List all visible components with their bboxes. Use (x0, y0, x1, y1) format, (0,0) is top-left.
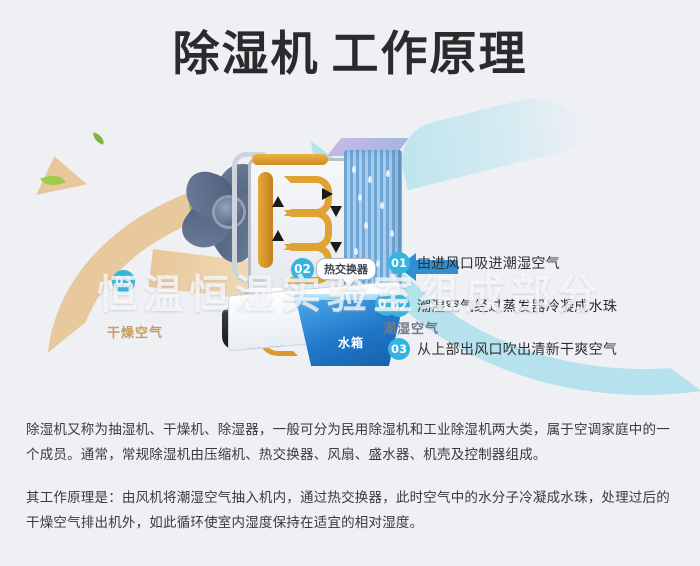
flow-arrow-up-icon (272, 196, 284, 207)
flow-arrow-up-icon (272, 230, 284, 241)
flow-arrow-right-icon (322, 188, 333, 200)
dry-air-label: 干燥空气 (107, 322, 163, 341)
list-item: 02 潮湿空气经过蒸发器冷凝成水珠 (388, 295, 688, 317)
paragraph-1: 除湿机又称为抽湿机、干燥机、除湿器，一般可分为民用除湿机和工业除湿机两大类，属于… (26, 418, 676, 468)
step-badge: 02 (388, 295, 410, 317)
flow-arrow-down-icon (330, 206, 342, 217)
coil-tube (252, 154, 328, 165)
compressor-cylinder (258, 172, 273, 268)
list-item: 01 由进风口吸进潮湿空气 (388, 252, 688, 274)
step-badge: 01 (388, 252, 410, 274)
water-tank-label: 水箱 (316, 334, 386, 351)
step-text: 由进风口吸进潮湿空气 (417, 253, 560, 273)
leaf-icon (91, 132, 106, 145)
list-item: 03 从上部出风口吹出清新干爽空气 (388, 338, 688, 360)
paragraph-2: 其工作原理是：由风机将潮湿空气抽入机内，通过热交换器，此时空气中的水分子冷凝成水… (26, 486, 676, 536)
process-steps-list: 01 由进风口吸进潮湿空气 02 潮湿空气经过蒸发器冷凝成水珠 03 从上部出风… (388, 252, 688, 381)
title-subject: 除湿机 (173, 27, 320, 82)
flow-arrow-down-icon (330, 242, 342, 253)
diagram-badge-03: 03 (112, 270, 135, 293)
dry-air-arrowhead-icon (29, 151, 87, 195)
heat-exchanger-tooltip: 热交换器 (316, 258, 376, 280)
description-text: 除湿机又称为抽湿机、干燥机、除湿器，一般可分为民用除湿机和工业除湿机两大类，属于… (26, 418, 676, 554)
title-predicate: 工作原理 (332, 27, 528, 82)
step-text: 潮湿空气经过蒸发器冷凝成水珠 (417, 296, 617, 316)
step-badge: 03 (388, 338, 410, 360)
infographic-page: 除湿机工作原理 (0, 0, 700, 566)
page-title: 除湿机工作原理 (0, 28, 700, 82)
step-text: 从上部出风口吹出清新干爽空气 (417, 339, 617, 359)
diagram-badge-02: 02 (291, 258, 314, 281)
